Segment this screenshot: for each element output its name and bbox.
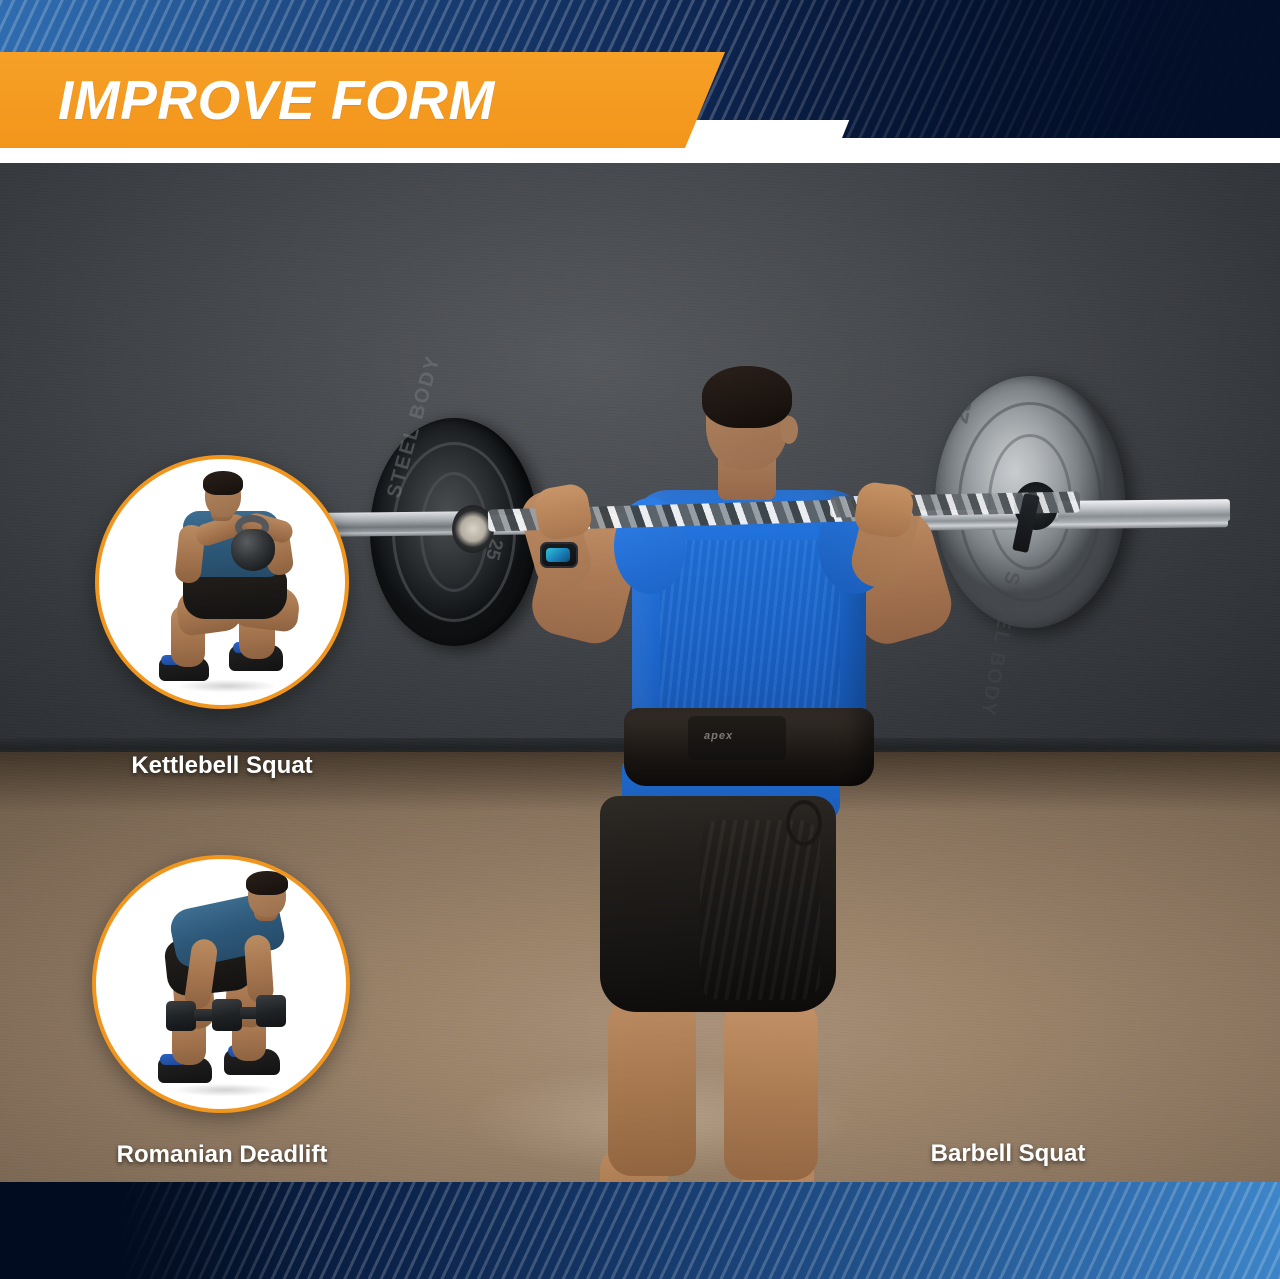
inset-romanian-deadlift[interactable] [92,855,350,1113]
mini-dumbbell-left [166,1001,196,1031]
smartwatch-face [546,548,570,562]
shorts-drawstring [786,800,822,846]
inset-kettlebell-squat[interactable] [95,455,349,709]
mini-kettlebell [231,529,275,571]
hand-right [853,480,916,539]
weight-plate-right-weight-text: 25 [947,396,978,425]
weightlifting-belt-logo: apex [704,730,733,742]
page-title: IMPROVE FORM [58,68,495,132]
weightlifting-belt-pad [688,716,786,760]
footer-banner [0,1182,1280,1279]
shorts-fabric-folds [700,820,820,1000]
barbell-sleeve-right [1058,499,1230,523]
thigh-right [724,996,818,1180]
mini-hair [246,871,288,895]
ear [780,416,798,444]
mini-dumbbell-mid [212,999,242,1031]
mini-shadow [152,1081,298,1099]
mini-hair [203,471,243,495]
mini-arm-right [244,934,275,1004]
footer-dark-overlay [0,1182,300,1279]
main-exercise-label: Barbell Squat [868,1140,1148,1168]
headline-banner: IMPROVE FORM [0,52,725,148]
inset-label-romanian-deadlift: Romanian Deadlift [0,1141,444,1169]
inset-label-kettlebell-squat: Kettlebell Squat [0,752,444,780]
hair [702,366,792,428]
header-banner: IMPROVE FORM [0,0,1280,163]
marketing-poster: IMPROVE FORM STEEL BODY 25 25 STEEL BODY [0,0,1280,1279]
mini-dumbbell-right [256,995,286,1027]
thigh-left [608,996,696,1176]
